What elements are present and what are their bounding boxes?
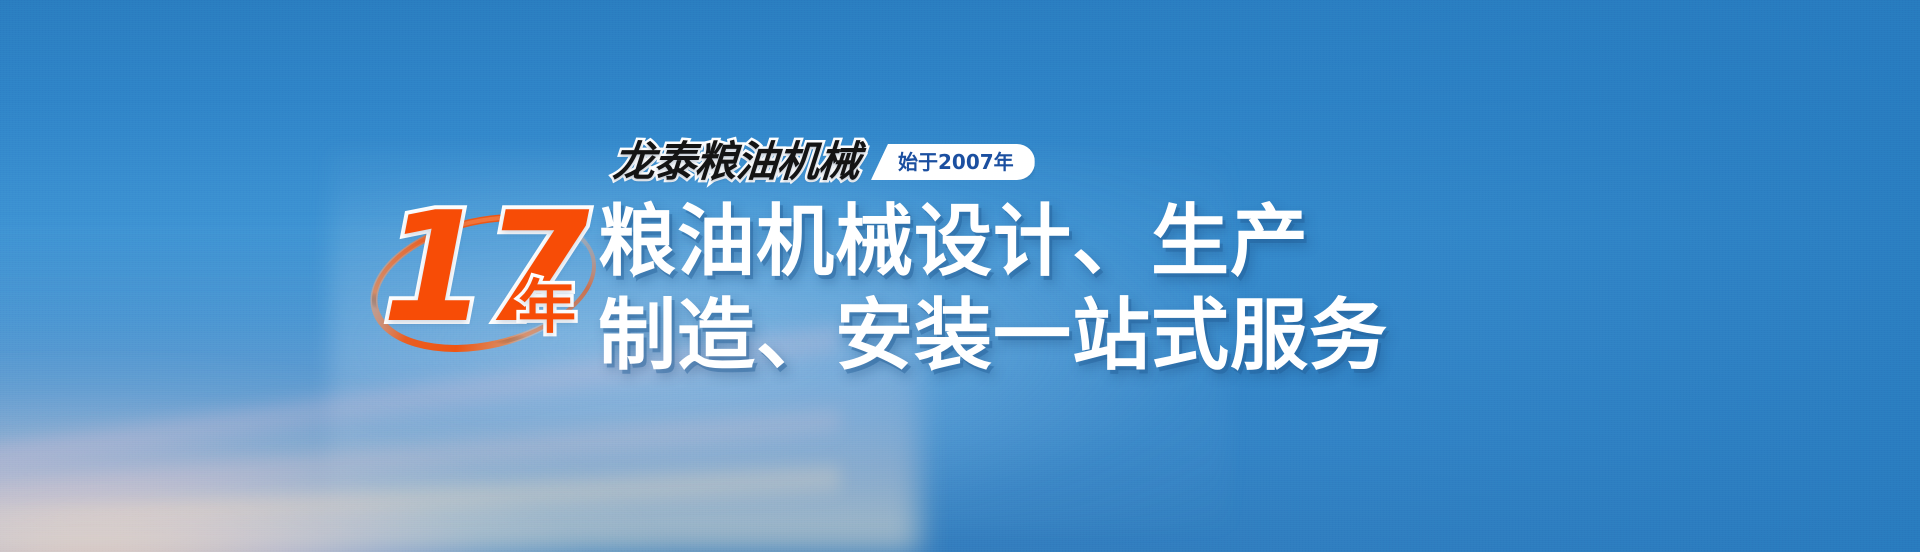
years-badge: 17 年 [368,196,600,368]
banner-content: 龙泰粮油机械 始于2007年 [0,0,1920,552]
hero-banner: 龙泰粮油机械 始于2007年 [0,0,1920,552]
headline-line-1: 粮油机械设计、生产 [598,198,1718,288]
since-badge-label: 始于2007年 [898,152,1014,172]
headline-line-2: 制造、安装一站式服务 [598,292,1718,382]
brand-logo-row: 龙泰粮油机械 始于2007年 [613,133,1035,191]
headline-block: 粮油机械设计、生产 制造、安装一站式服务 [598,198,1718,381]
brand-wordmark: 龙泰粮油机械 [612,141,861,183]
since-badge: 始于2007年 [871,144,1035,180]
years-suffix: 年 [518,278,576,336]
